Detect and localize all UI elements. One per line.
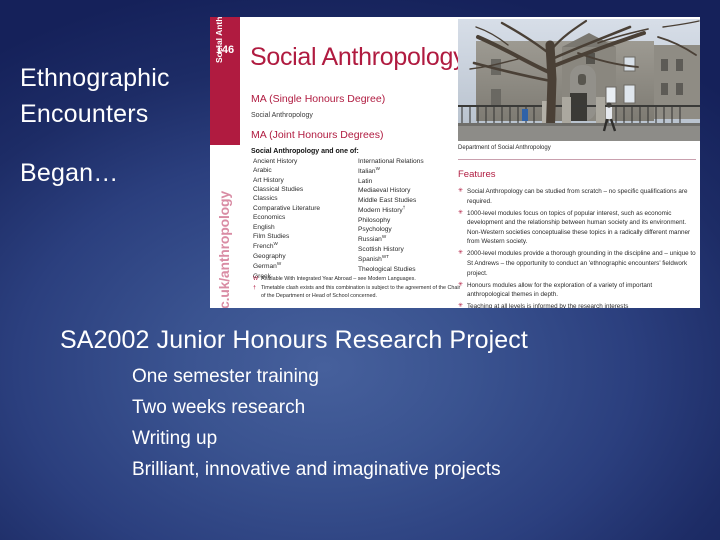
subject-item: RussianW xyxy=(358,234,468,245)
feature-text: 2000-level modules provide a thorough gr… xyxy=(467,249,696,278)
feature-bullet-icon: ✳ xyxy=(458,281,467,300)
footnote-mark: † xyxy=(253,284,261,300)
subject-footnote-mark: W xyxy=(376,166,380,171)
subject-item: FrenchW xyxy=(253,241,358,252)
prospectus-joint-list-heading: Social Anthropology and one of: xyxy=(251,148,359,155)
subject-item: Latin xyxy=(358,177,468,186)
module-bullet: Writing up xyxy=(132,424,501,455)
prospectus-subject-column-left: Ancient HistoryArabicArt HistoryClassica… xyxy=(253,157,358,281)
heading-line-2: Encounters xyxy=(20,100,148,128)
prospectus-joint-honours-heading: MA (Joint Honours Degrees) xyxy=(251,129,383,141)
subject-item: GermanW xyxy=(253,261,358,272)
footnote-row: WAvailable With Integrated Year Abroad –… xyxy=(253,275,463,283)
subject-item: Film Studies xyxy=(253,232,358,241)
module-bullet: One semester training xyxy=(132,362,501,393)
prospectus-single-honours-heading: MA (Single Honours Degree) xyxy=(251,93,385,105)
footnote-text: Timetable clash exists and this combinat… xyxy=(261,284,463,300)
features-divider xyxy=(458,159,696,160)
department-building-photo xyxy=(458,19,700,141)
subject-item: Scottish History xyxy=(358,245,468,254)
footnote-row: †Timetable clash exists and this combina… xyxy=(253,284,463,300)
feature-item: ✳2000-level modules provide a thorough g… xyxy=(458,249,696,278)
feature-text: 1000-level modules focus on topics of po… xyxy=(467,209,696,247)
heading-line-3: Began… xyxy=(20,159,119,187)
prospectus-footnotes: WAvailable With Integrated Year Abroad –… xyxy=(253,275,463,301)
photo-caption: Department of Social Anthropology xyxy=(458,145,551,151)
features-list: ✳Social Anthropology can be studied from… xyxy=(458,187,696,308)
feature-bullet-icon: ✳ xyxy=(458,302,467,308)
feature-bullet-icon: ✳ xyxy=(458,209,467,247)
subject-item: Mediaeval History xyxy=(358,186,468,195)
subject-item: Geography xyxy=(253,252,358,261)
subject-item: ItalianW xyxy=(358,166,468,177)
subject-item: Middle East Studies xyxy=(358,196,468,205)
subject-item: Classical Studies xyxy=(253,185,358,194)
subject-footnote-mark: W xyxy=(274,241,278,246)
feature-text: Honours modules allow for the exploratio… xyxy=(467,281,696,300)
feature-bullet-icon: ✳ xyxy=(458,249,467,278)
prospectus-single-honours-item: Social Anthropology xyxy=(251,112,313,119)
subject-item: English xyxy=(253,223,358,232)
subject-item: Psychology xyxy=(358,225,468,234)
subject-item: Ancient History xyxy=(253,157,358,166)
subject-item: Classics xyxy=(253,194,358,203)
footnote-text: Available With Integrated Year Abroad – … xyxy=(261,275,416,283)
module-bullet: Two weeks research xyxy=(132,393,501,424)
subject-footnote-mark: † xyxy=(403,205,406,210)
subject-item: Theological Studies xyxy=(358,265,468,274)
module-bullet-list: One semester trainingTwo weeks researchW… xyxy=(132,362,501,486)
subject-item: Economics xyxy=(253,213,358,222)
subject-footnote-mark: W xyxy=(277,261,281,266)
photo-illustration xyxy=(458,19,700,141)
heading-line-1: Ethnographic xyxy=(20,64,170,92)
module-title: SA2002 Junior Honours Research Project xyxy=(60,326,528,355)
prospectus-title: Social Anthropology xyxy=(250,43,465,72)
subject-item: SpanishWT xyxy=(358,254,468,265)
slide-heading: Ethnographic Encounters Began… xyxy=(20,60,210,191)
feature-item: ✳Social Anthropology can be studied from… xyxy=(458,187,696,206)
subject-item: Modern History† xyxy=(358,205,468,216)
subject-item: Art History xyxy=(253,176,358,185)
subject-item: Philosophy xyxy=(358,216,468,225)
prospectus-subject-column-right: International RelationsItalianWLatinMedi… xyxy=(358,157,468,274)
feature-bullet-icon: ✳ xyxy=(458,187,467,206)
presentation-slide: Ethnographic Encounters Began… 146 Socia… xyxy=(0,0,720,540)
feature-item: ✳Teaching at all levels is informed by t… xyxy=(458,302,696,308)
feature-item: ✳1000-level modules focus on topics of p… xyxy=(458,209,696,247)
features-heading: Features xyxy=(458,169,496,180)
feature-item: ✳Honours modules allow for the explorati… xyxy=(458,281,696,300)
subject-footnote-mark: W xyxy=(382,234,386,239)
subject-footnote-mark: WT xyxy=(382,254,389,259)
footnote-mark: W xyxy=(253,275,261,283)
module-bullet: Brilliant, innovative and imaginative pr… xyxy=(132,455,501,486)
subject-item: International Relations xyxy=(358,157,468,166)
prospectus-page-image: 146 Social Anthropology c.uk/anthropolog… xyxy=(210,17,700,308)
subject-item: Comparative Literature xyxy=(253,204,358,213)
feature-text: Social Anthropology can be studied from … xyxy=(467,187,696,206)
prospectus-vertical-url: c.uk/anthropology xyxy=(216,139,232,308)
heading-spacer xyxy=(20,133,210,155)
prospectus-vertical-tab-label: Social Anthropology xyxy=(214,17,224,63)
feature-text: Teaching at all levels is informed by th… xyxy=(467,302,696,308)
subject-item: Arabic xyxy=(253,166,358,175)
